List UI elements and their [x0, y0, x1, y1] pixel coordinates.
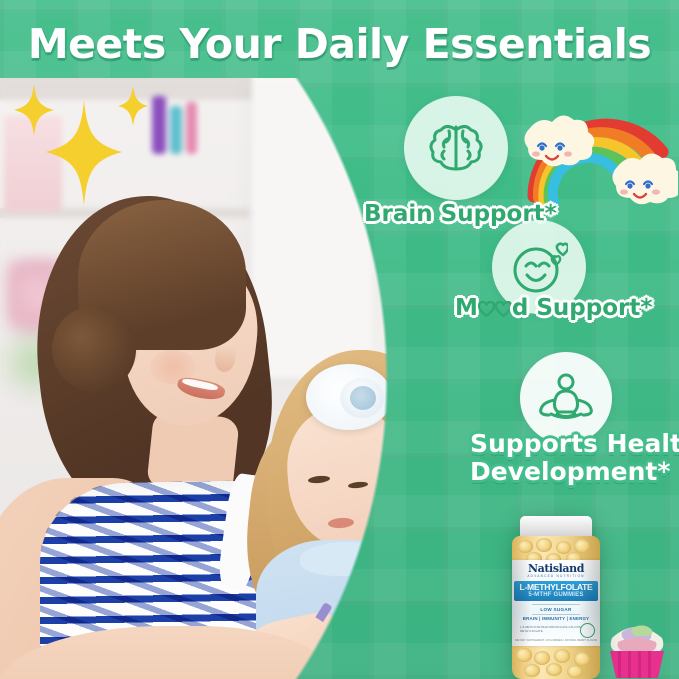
feature-mood-label-prefix: M: [455, 295, 478, 321]
ingredients-text: L-5-METHYLTETRAHYDROFOLATE CALCIUM METHY…: [520, 625, 590, 633]
brand-tagline: ADVANCED NUTRITION: [512, 574, 600, 578]
brain-icon: [425, 117, 487, 179]
rainbow-with-clouds-icon: [512, 100, 678, 212]
cloud-left: [524, 115, 594, 166]
meditation-lotus-icon: [537, 369, 595, 427]
product-name: L-METHYLFOLATE: [514, 582, 598, 592]
non-gmo-seal-icon: [580, 623, 595, 638]
product-marketing-image: Meets Your Daily Essentials: [0, 0, 679, 679]
feature-mood-support[interactable]: Md Support*: [492, 220, 586, 314]
label-footer: DIETARY SUPPLEMENT • 60 GUMMIES • NATURA…: [512, 639, 600, 642]
heart-icon: [495, 301, 512, 317]
feature-mood-label: Md Support*: [455, 296, 652, 322]
product-bottle[interactable]: Natisland ADVANCED NUTRITION L-METHYLFOL…: [508, 516, 604, 679]
feature-mood-label-suffix: d Support*: [512, 295, 653, 321]
benefits-line: BRAIN | IMMUNITY | ENERGY: [512, 616, 600, 621]
heart-icon: [478, 301, 495, 317]
daughter-dress-button: [372, 598, 378, 604]
low-sugar-badge: LOW SUGAR: [532, 604, 580, 615]
cupcake-with-play-dough: [592, 608, 679, 679]
feature-brain-support[interactable]: Brain Support*: [404, 96, 508, 200]
feature-healthy-development[interactable]: Supports Healthy Development*: [520, 352, 612, 444]
feature-development-label: Supports Healthy Development*: [470, 430, 670, 486]
page-title: Meets Your Daily Essentials: [0, 20, 679, 68]
product-name-banner: L-METHYLFOLATE 5-MTHF GUMMIES: [514, 581, 598, 601]
feature-development-label-line2: Development*: [470, 458, 670, 486]
brand-name: Natisland: [512, 562, 600, 575]
bottle-label: Natisland ADVANCED NUTRITION L-METHYLFOL…: [512, 560, 600, 646]
brain-badge: [404, 96, 508, 200]
daughter-dress-collar: [300, 542, 396, 576]
product-form: 5-MTHF GUMMIES: [514, 592, 598, 598]
smiley-hearts-icon: [510, 238, 568, 296]
sparkle-icon: [118, 86, 148, 126]
sparkle-icon: [46, 100, 122, 206]
daughter-hair-rose: [350, 386, 376, 410]
feature-development-label-line1: Supports Healthy: [470, 430, 670, 458]
bottle-cap: [520, 516, 592, 538]
